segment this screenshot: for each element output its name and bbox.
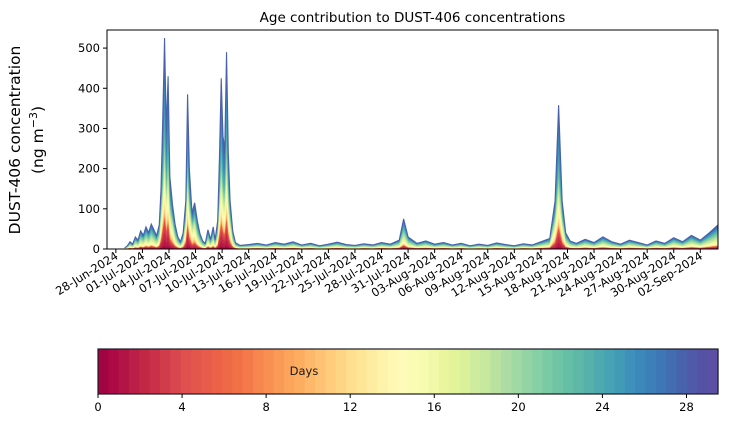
colorbar-segment — [635, 349, 646, 394]
colorbar-segment — [150, 349, 161, 394]
colorbar-label: Days — [290, 364, 319, 378]
colorbar-tick-label: 16 — [427, 400, 442, 414]
colorbar-segment — [243, 349, 254, 394]
colorbar-segment — [408, 349, 419, 394]
colorbar-tick-label: 24 — [595, 400, 610, 414]
colorbar-segment — [687, 349, 698, 394]
colorbar-segment — [666, 349, 677, 394]
colorbar-segment — [615, 349, 626, 394]
colorbar-segment — [604, 349, 615, 394]
age-layer-29 — [125, 38, 730, 249]
colorbar-segment — [201, 349, 212, 394]
colorbar-segment — [119, 349, 130, 394]
colorbar-segment — [511, 349, 522, 394]
x-axis-ticks: 28-Jun-202401-Jul-202404-Jul-202407-Jul-… — [53, 249, 705, 300]
colorbar-segment — [336, 349, 347, 394]
colorbar-tick-label: 8 — [262, 400, 269, 414]
age-layer-24 — [125, 115, 730, 249]
colorbar-segment — [646, 349, 657, 394]
figure-canvas: Age contribution to DUST-406 concentrati… — [0, 0, 730, 425]
age-layer-25 — [125, 101, 730, 249]
colorbar-segment — [222, 349, 233, 394]
colorbar-segment — [377, 349, 388, 394]
colorbar-segment — [584, 349, 595, 394]
y-tick-label: 500 — [78, 41, 100, 55]
colorbar-segment — [594, 349, 605, 394]
colorbar-segment — [232, 349, 243, 394]
colorbar-tick-label: 0 — [94, 400, 101, 414]
colorbar-segment — [129, 349, 140, 394]
y-axis-label-line2: (ng m−3) — [27, 106, 48, 174]
colorbar-segment — [367, 349, 378, 394]
colorbar-segment — [191, 349, 202, 394]
y-tick-label: 300 — [78, 121, 100, 135]
colorbar-segment — [697, 349, 708, 394]
colorbar-segment — [460, 349, 471, 394]
chart-svg: Age contribution to DUST-406 concentrati… — [0, 0, 730, 425]
colorbar-segment — [708, 349, 719, 394]
y-tick-label: 400 — [78, 81, 100, 95]
colorbar-segment — [325, 349, 336, 394]
colorbar-segment — [181, 349, 192, 394]
colorbar-tick-label: 20 — [511, 400, 526, 414]
colorbar-segment — [677, 349, 688, 394]
colorbar-segment — [656, 349, 667, 394]
colorbar-segment — [398, 349, 409, 394]
colorbar-tick-label: 4 — [178, 400, 185, 414]
colorbar-segment — [625, 349, 636, 394]
colorbar-segment — [532, 349, 543, 394]
colorbar-segment — [573, 349, 584, 394]
colorbar: Days0481216202428 — [94, 349, 718, 414]
colorbar-segment — [563, 349, 574, 394]
colorbar-segment — [429, 349, 440, 394]
total-outline — [125, 38, 730, 248]
colorbar-segment — [253, 349, 264, 394]
colorbar-segment — [470, 349, 481, 394]
colorbar-segment — [170, 349, 181, 394]
colorbar-segment — [480, 349, 491, 394]
chart-title: Age contribution to DUST-406 concentrati… — [260, 10, 566, 26]
age-layer-28 — [125, 51, 730, 249]
y-tick-label: 200 — [78, 162, 100, 176]
age-layer-22 — [125, 136, 730, 249]
colorbar-segment — [439, 349, 450, 394]
colorbar-tick-label: 28 — [679, 400, 694, 414]
colorbar-segment — [98, 349, 109, 394]
colorbar-segment — [522, 349, 533, 394]
stacked-area-layers — [125, 38, 730, 249]
age-layer-27 — [125, 67, 730, 249]
colorbar-segment — [501, 349, 512, 394]
colorbar-tick-label: 12 — [343, 400, 358, 414]
colorbar-segment — [139, 349, 150, 394]
y-axis-label-line1: DUST-406 concentration — [6, 46, 24, 235]
y-tick-label: 0 — [93, 242, 100, 256]
colorbar-segment — [418, 349, 429, 394]
colorbar-segment — [387, 349, 398, 394]
colorbar-segment — [346, 349, 357, 394]
plot-frame — [107, 30, 718, 249]
age-layer-23 — [125, 127, 730, 249]
colorbar-segment — [356, 349, 367, 394]
colorbar-segment — [212, 349, 223, 394]
colorbar-segment — [491, 349, 502, 394]
colorbar-segment — [160, 349, 171, 394]
colorbar-segment — [274, 349, 285, 394]
y-tick-label: 100 — [78, 202, 100, 216]
colorbar-segment — [108, 349, 119, 394]
colorbar-segment — [449, 349, 460, 394]
y-axis-label: DUST-406 concentration(ng m−3) — [6, 46, 47, 235]
y-axis-ticks: 0100200300400500 — [78, 41, 107, 256]
age-layer-26 — [125, 84, 730, 249]
colorbar-segment — [542, 349, 553, 394]
colorbar-segment — [263, 349, 274, 394]
colorbar-segment — [553, 349, 564, 394]
